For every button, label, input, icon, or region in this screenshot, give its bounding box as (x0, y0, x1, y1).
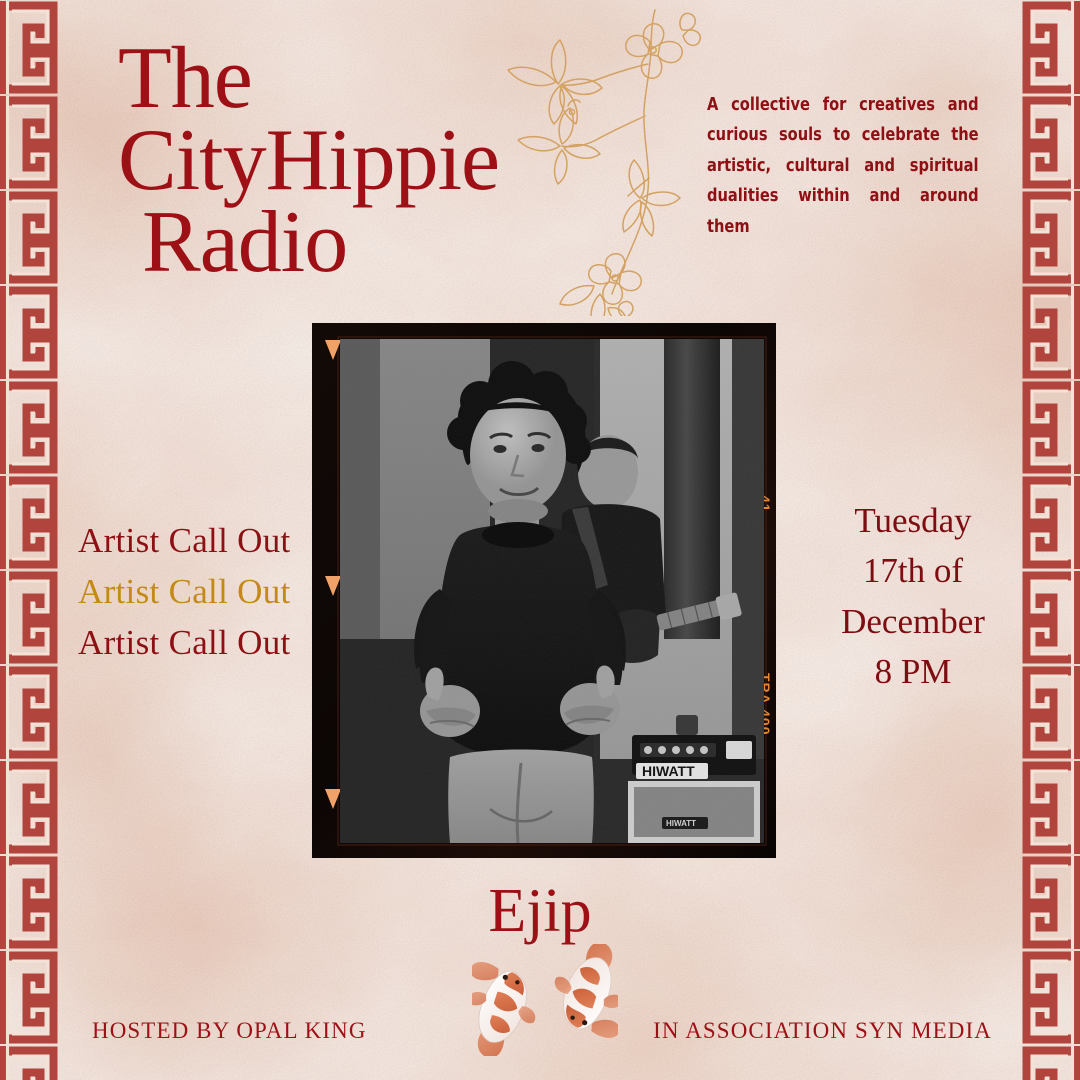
footer-association: In association Syn Media (653, 1018, 992, 1044)
title-line-2: CityHippie (118, 120, 588, 202)
artist-photo: HIWATT HIWATT (340, 339, 764, 843)
artist-photo-frame: 41 TRA 400 (312, 323, 776, 858)
event-date: 17th of (815, 546, 1011, 596)
film-triangle-marker-icon-1 (325, 340, 341, 360)
event-day: Tuesday (815, 496, 1011, 546)
film-triangle-marker-icon-3 (325, 789, 341, 809)
artist-photo-illustration: HIWATT HIWATT (340, 339, 764, 843)
artist-callout-1[interactable]: Artist Call Out (78, 516, 291, 567)
artist-name: Ejip (0, 876, 1080, 947)
page-title: The CityHippie Radio (118, 38, 588, 283)
poster-canvas: The CityHippie Radio A collective for cr… (0, 0, 1080, 1080)
film-triangle-marker-icon-2 (325, 576, 341, 596)
collective-description: A collective for creatives and curious s… (707, 90, 979, 242)
event-time: 8 PM (815, 647, 1011, 697)
title-line-3: Radio (118, 202, 588, 284)
event-datetime: Tuesday 17th of December 8 PM (815, 496, 1011, 698)
title-line-1: The (118, 38, 588, 120)
footer-host: Hosted by Opal King (92, 1018, 367, 1044)
artist-callout-list: Artist Call Out Artist Call Out Artist C… (78, 516, 291, 668)
artist-callout-3[interactable]: Artist Call Out (78, 618, 291, 669)
event-month: December (815, 597, 1011, 647)
koi-fish-pair-icon (472, 944, 618, 1056)
artist-callout-2[interactable]: Artist Call Out (78, 567, 291, 618)
